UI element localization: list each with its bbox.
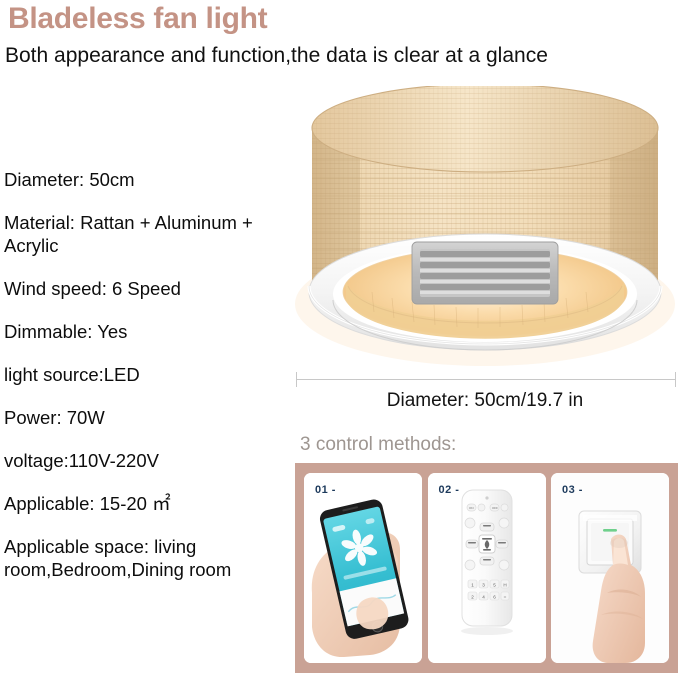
dimension-bracket	[296, 372, 676, 388]
svg-text:5: 5	[493, 583, 496, 588]
product-image	[292, 86, 678, 376]
svg-text:H: H	[503, 583, 506, 588]
svg-text:ON: ON	[469, 506, 474, 510]
spec-applicable-space: Applicable space: living room,Bedroom,Di…	[4, 535, 289, 581]
page-title: Bladeless fan light	[8, 2, 267, 36]
control-method-number-01: 01 -	[315, 484, 336, 496]
svg-text:2: 2	[471, 595, 474, 600]
spec-applicable-area: Applicable: 15-20 ㎡	[4, 492, 289, 515]
ceiling-fan-light-illustration	[292, 86, 678, 376]
control-methods-panel: 01 -	[295, 463, 678, 673]
spec-light-source: light source:LED	[4, 363, 289, 386]
air-outlet-grille	[412, 242, 558, 304]
spec-power: Power: 70W	[4, 406, 289, 429]
svg-text:OFF: OFF	[492, 506, 498, 510]
spec-voltage: voltage:110V-220V	[4, 449, 289, 472]
dimension-bar	[296, 379, 676, 380]
control-method-number-03: 03 -	[562, 484, 583, 496]
control-method-card-remote[interactable]: 02 -	[428, 473, 546, 663]
svg-text:4: 4	[482, 595, 485, 600]
hand-holding-smartphone-icon	[304, 473, 422, 663]
spec-dimmable: Dimmable: Yes	[4, 320, 289, 343]
svg-text:=: =	[503, 595, 506, 600]
spec-material: Material: Rattan + Aluminum + Acrylic	[4, 211, 289, 257]
control-method-number-02: 02 -	[439, 484, 460, 496]
control-methods-heading: 3 control methods:	[300, 434, 456, 456]
svg-text:3: 3	[482, 583, 485, 588]
page-subtitle: Both appearance and function,the data is…	[5, 44, 548, 68]
svg-text:6: 6	[493, 595, 496, 600]
dimension-caption: Diameter: 50cm/19.7 in	[292, 390, 678, 412]
spec-diameter: Diameter: 50cm	[4, 168, 289, 191]
remote-control-icon: ONOFF	[428, 473, 546, 663]
control-method-card-wall-switch[interactable]: 03 -	[551, 473, 669, 663]
specification-list: Diameter: 50cm Material: Rattan + Alumin…	[4, 168, 289, 601]
spec-wind-speed: Wind speed: 6 Speed	[4, 277, 289, 300]
svg-text:1: 1	[471, 583, 474, 588]
control-method-card-app[interactable]: 01 -	[304, 473, 422, 663]
hand-pressing-wall-switch-icon	[551, 473, 669, 663]
dimension-tick-right	[675, 372, 676, 387]
